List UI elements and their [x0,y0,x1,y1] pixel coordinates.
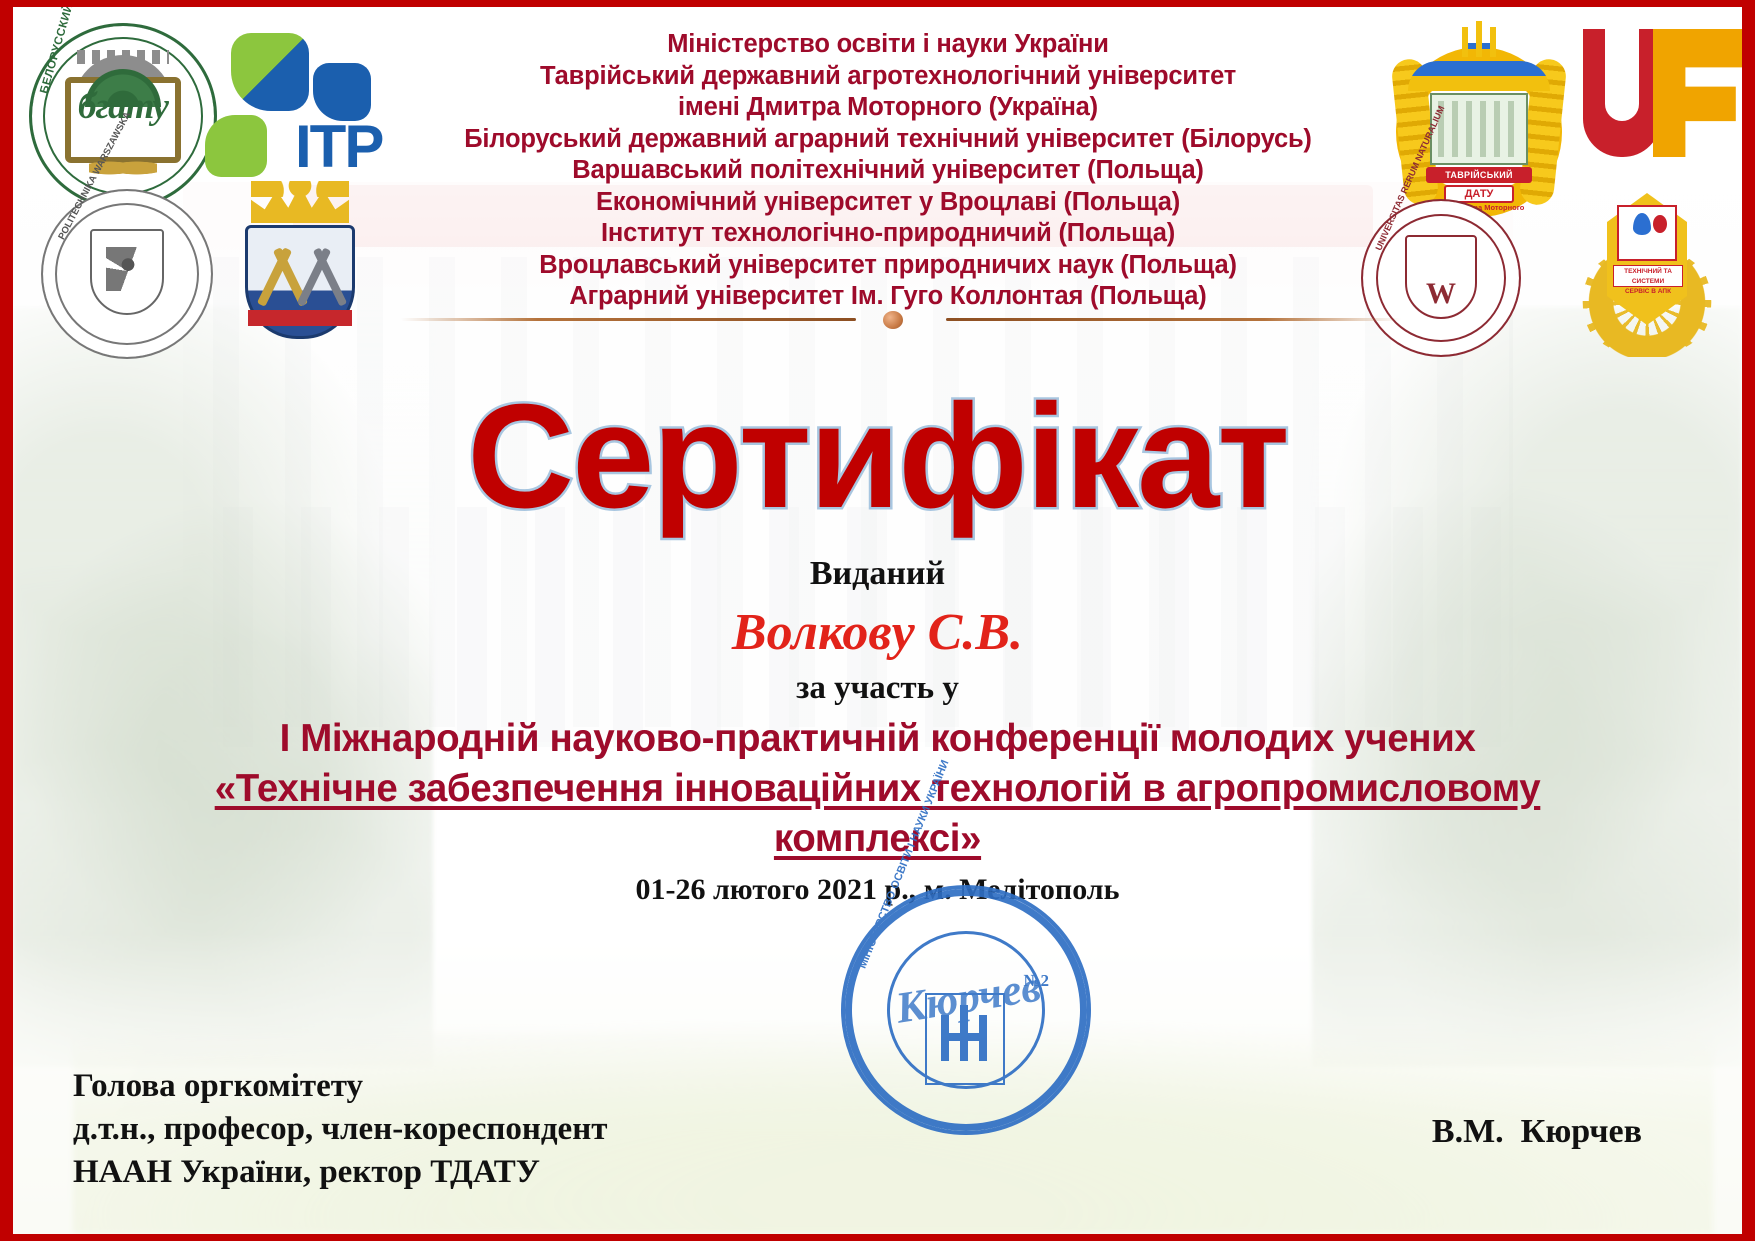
warsaw-shield-icon [90,229,164,315]
conference-title-line: «Технічне забезпечення інноваційних техн… [83,764,1672,814]
tdatu-building-icon [1430,93,1528,165]
institution-line: Білоруський державний аграрний технічний… [383,124,1393,156]
signature-line: д.т.н., професор, член-кореспондент [73,1108,607,1151]
wroclaw-monogram: W [1407,277,1475,311]
wroclaw-shield-icon: W [1405,235,1477,319]
conference-title: І Міжнародній науково-практичній конфере… [83,714,1672,864]
divider-line-right [946,318,1401,321]
conference-title-line: І Міжнародній науково-практичній конфере… [83,714,1672,764]
service-band-left: ТЕХНІЧНИЙ ТА СИСТЕМИ [1614,267,1682,287]
issued-label: Виданий [83,552,1672,596]
tdatu-service-emblem: ТЕХНІЧНИЙ ТА СИСТЕМИ СЕРВІС В АПК [1571,193,1723,361]
page-title: Сертифікат [13,377,1742,537]
itp-logo: ITP [209,29,399,181]
recipient-name: Волкову С.В. [83,600,1672,666]
official-seal: МІНІСТЕРСТВО ОСВІТИ І НАУКИ УКРАЇНИ №2 К… [841,885,1091,1135]
ue-letter-e-icon [1653,29,1743,157]
institution-line: Міністерство освіти і науки України [383,29,1393,61]
signature-line: НААН України, ректор ТДАТУ [73,1151,607,1194]
itp-wordmark: ITP [295,117,382,177]
shield-body [245,225,355,339]
participation-label: за участь у [83,666,1672,710]
ornamental-divider [401,307,1401,331]
divider-bead-icon [883,311,903,329]
institution-line: Інститут технологічно-природничий (Польщ… [383,218,1393,250]
certificate-body: Виданий Волкову С.В. за участь у І Міжна… [83,552,1672,910]
trident-icon [1462,21,1496,57]
ue-letter-u-icon [1583,29,1661,157]
certificate-document: БЕЛОРУССКИЙ ГОСУДАРСТВЕННЫЙ бгату ITP PO… [0,0,1755,1241]
institution-line: Варшавський політехнічний університет (П… [383,155,1393,187]
itp-leaf-icon-1 [231,33,309,111]
conference-title-line: комплексі» [83,814,1672,864]
institution-line: Економічний університет у Вроцлаві (Поль… [383,187,1393,219]
shield-stripe [248,310,352,326]
heraldic-shield-logo [225,183,375,343]
signature-line: Голова оргкомітету [73,1065,607,1108]
service-band-label: ТЕХНІЧНИЙ ТА СИСТЕМИ СЕРВІС В АПК [1613,265,1683,287]
crown-jewels-icon [251,181,349,197]
signer-name: В.М. Кюрчев [1432,1113,1642,1151]
tdatu-emblem: ТАВРІЙСЬКИЙ ДАТУ Імені Дмитра Моторного [1396,21,1562,217]
signature-block: Голова оргкомітету д.т.н., професор, чле… [73,1065,607,1194]
itp-leaf-icon-3 [205,115,267,177]
divider-line-left [401,318,856,321]
tdatu-ribbon [1408,61,1550,91]
ue-logo [1583,29,1743,161]
institution-line: Вроцлавський університет природничих нау… [383,250,1393,282]
warsaw-eagle-icon [106,247,150,291]
institution-line: Таврійський державний агротехнологічний … [383,61,1393,93]
service-band-right: СЕРВІС В АПК [1614,287,1682,297]
dot-icon [1653,215,1667,233]
institution-line: імені Дмитра Моторного (Україна) [383,92,1393,124]
tdatu-band-label: ТАВРІЙСЬКИЙ [1426,167,1532,183]
organizing-institutions-list: Міністерство освіти і науки України Тавр… [383,29,1393,313]
warsaw-university-of-technology-logo: POLITECHNIKA WARSZAWSKA [41,189,213,359]
